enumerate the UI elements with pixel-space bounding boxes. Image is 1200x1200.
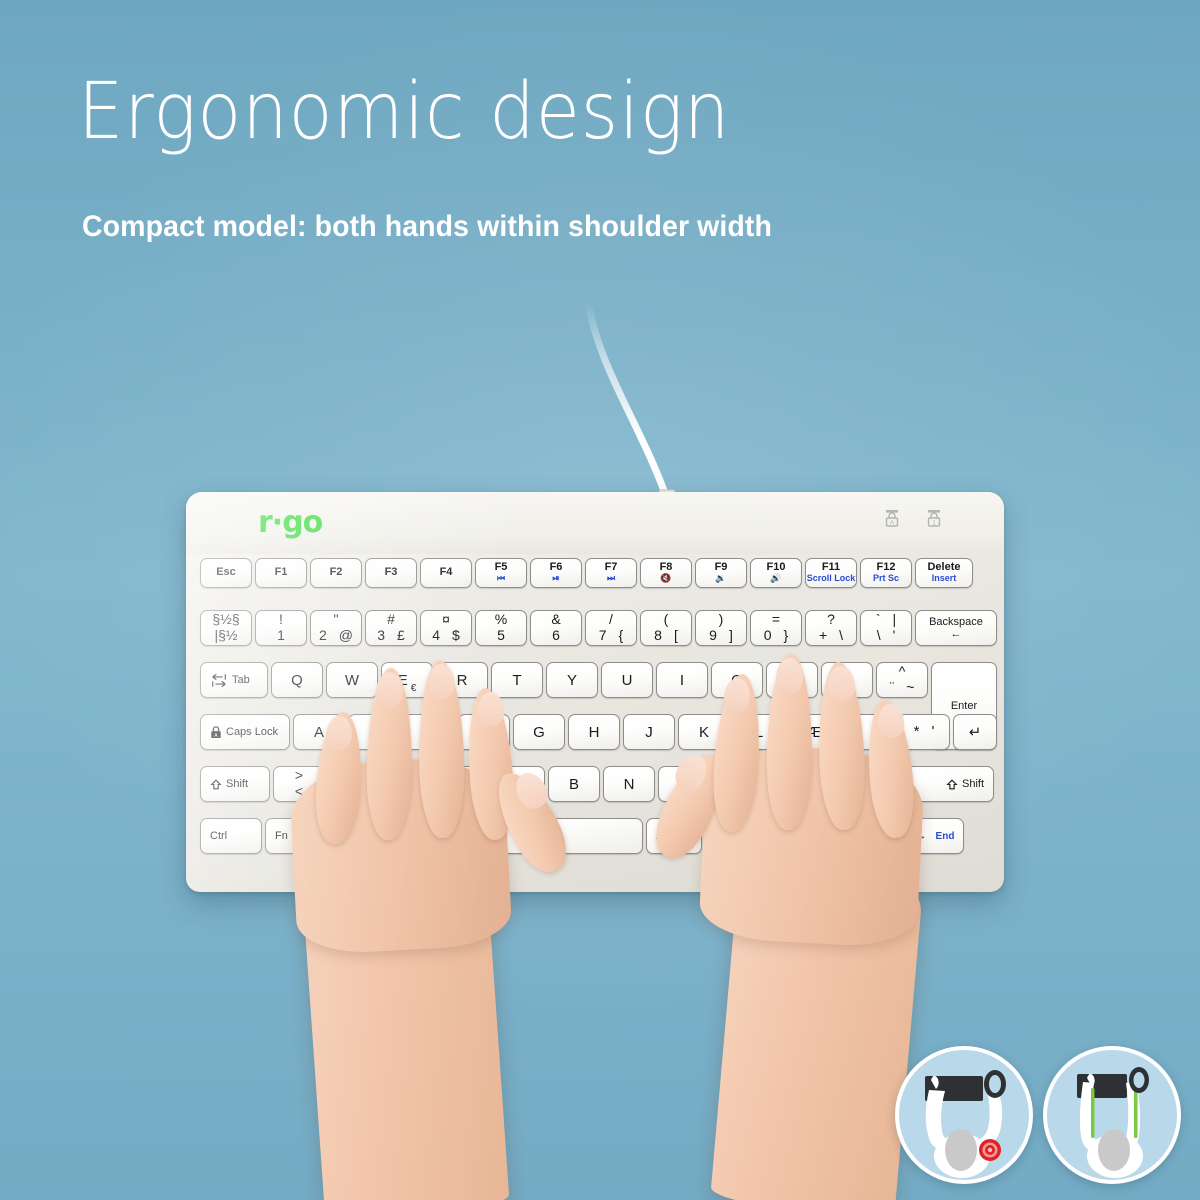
key-base-legend: 7: [599, 628, 607, 644]
key-label: Æ: [807, 724, 822, 741]
key-legend-pair: ÄØ: [852, 724, 886, 741]
key-label: Caps Lock: [226, 726, 278, 738]
key-label: R: [457, 672, 468, 689]
key-top-row: (: [664, 612, 669, 628]
key-fn[interactable]: Fn: [265, 818, 317, 854]
key-altgr-legend: \: [839, 628, 843, 644]
key-label: Y: [567, 672, 577, 689]
key-s[interactable]: S: [348, 714, 400, 750]
key-e[interactable]: E€: [381, 662, 433, 698]
key-label: W: [345, 672, 359, 689]
shift-arrow-icon: [210, 779, 222, 790]
key-secondary-label: 🔉: [715, 574, 726, 584]
key-secondary-label: 🔊: [770, 574, 781, 584]
key-bottom-row: 5: [497, 628, 505, 644]
key-key[interactable]: :.: [768, 766, 820, 802]
key-shift-legend: ^: [899, 664, 906, 680]
key-h[interactable]: H: [568, 714, 620, 750]
key-bottom-row: \': [877, 628, 896, 644]
key-bottom-row: 4$: [432, 628, 460, 644]
key-1[interactable]: !1: [255, 610, 307, 646]
key-arrow-up[interactable]: ↑PgUp: [845, 800, 901, 817]
key-base-legend: <: [295, 784, 303, 800]
page-title: Ergonomic design: [78, 72, 730, 154]
key-legend-pair: *': [914, 724, 935, 741]
tab-arrows-icon: [210, 673, 228, 688]
key-altgr-legend: @: [339, 628, 353, 644]
key-label: U: [622, 672, 633, 689]
key-secondary-legend: ': [931, 724, 934, 741]
key-bottom-row: |§½: [214, 628, 237, 644]
key-bottom-row: 6: [552, 628, 560, 644]
key-base-legend: -: [847, 784, 852, 800]
key-8[interactable]: (8[: [640, 610, 692, 646]
key-c[interactable]: C: [438, 766, 490, 802]
key-base-legend: .: [792, 784, 796, 800]
key-secondary-label: PgUp: [869, 803, 895, 814]
key-6[interactable]: &6: [530, 610, 582, 646]
key-key[interactable]: Æ: [788, 714, 840, 750]
arrow-right-icon: →: [916, 830, 927, 842]
key-f11[interactable]: F11Scroll Lock: [805, 558, 857, 588]
key-bottom-row: +\: [819, 628, 843, 644]
key-f5[interactable]: F5⏮: [475, 558, 527, 588]
key-label: K: [699, 724, 709, 741]
key-label: L: [755, 724, 763, 741]
key-a[interactable]: A: [293, 714, 345, 750]
enter-arrow-icon: ↵: [969, 723, 982, 741]
key-shift-legend: §½§: [212, 612, 239, 628]
key-bottom-row: 3£: [377, 628, 405, 644]
key-label: B: [569, 776, 579, 793]
rgo-logo: r·go: [258, 508, 322, 538]
key-label: S: [369, 724, 379, 741]
key-y[interactable]: Y: [546, 662, 598, 698]
key-label: D: [424, 724, 435, 741]
key-top-row: ": [334, 612, 339, 628]
key-f4[interactable]: F4: [420, 558, 472, 588]
key-alt-gr[interactable]: Alt Gr: [646, 818, 702, 854]
key-f1[interactable]: F1: [255, 558, 307, 588]
key-altgr-legend: £: [397, 628, 405, 644]
key-f3[interactable]: F3: [365, 558, 417, 588]
key-r[interactable]: R: [436, 662, 488, 698]
keyboard[interactable]: r·go A 1 EscF1F2F3F4F5⏮F6⏯F7⏭F8🔇F9🔉F10🔊F…: [186, 492, 1004, 892]
key-alt2-legend: |: [893, 612, 897, 628]
key-4[interactable]: ¤4$: [420, 610, 472, 646]
key-label: N: [624, 776, 635, 793]
key-secondary-label: PgDn: [869, 822, 895, 833]
key-bottom-row: 9]: [709, 628, 733, 644]
key-base-legend: 2: [319, 628, 327, 644]
forearm: [301, 859, 510, 1200]
key-z[interactable]: Z: [328, 766, 380, 802]
key-shift-legend: #: [387, 612, 395, 628]
key-f10[interactable]: F10🔊: [750, 558, 802, 588]
key-altgr-legend: {: [619, 628, 624, 644]
key-label: X: [404, 776, 414, 793]
key-shift-legend: !: [279, 612, 283, 628]
key-7[interactable]: /7{: [585, 610, 637, 646]
forearm: [710, 848, 925, 1200]
key-label: E: [398, 672, 408, 689]
key-label: F1: [275, 567, 288, 579]
key-base-legend: ¨: [890, 680, 895, 696]
backspace-arrow-icon: ←: [929, 628, 983, 640]
key-0[interactable]: =0}: [750, 610, 802, 646]
key-altgr-legend: ~: [906, 680, 914, 696]
marketing-image: Ergonomic design Compact model: both han…: [0, 0, 1200, 1200]
key-base-legend: 1: [277, 628, 285, 644]
key-ctrl[interactable]: Ctrl: [200, 818, 262, 854]
key-top-row: =: [772, 612, 780, 628]
key-base-legend: 5: [497, 628, 505, 644]
key-label: J: [645, 724, 653, 741]
key-top-row: !: [279, 612, 283, 628]
key-label: F: [479, 724, 488, 741]
key-base-legend: 6: [552, 628, 560, 644]
key-secondary-label: Insert: [932, 574, 957, 584]
key-secondary-label: End: [936, 831, 955, 842]
key-top-row: /: [609, 612, 613, 628]
key-base-legend: 3: [377, 628, 385, 644]
key-label: Shift: [962, 778, 984, 790]
key-secondary-label: Scroll Lock: [807, 574, 856, 584]
key-label: F3: [385, 567, 398, 579]
key-v[interactable]: V: [493, 766, 545, 802]
key-altgr-legend: €: [411, 683, 417, 694]
key-shift-legend: %: [495, 612, 507, 628]
key-shift-legend: /: [609, 612, 613, 628]
key-label: Fn: [275, 830, 288, 842]
key-secondary-label: ⏭: [607, 574, 615, 584]
key-bottom-row: 0}: [764, 628, 788, 644]
key-base-legend: \: [877, 628, 881, 644]
key-f9[interactable]: F9🔉: [695, 558, 747, 588]
key-g[interactable]: G: [513, 714, 565, 750]
key-top-row: `|: [876, 612, 896, 628]
key-key[interactable]: Å: [821, 662, 873, 698]
caps-lock-led-icon: A: [884, 510, 900, 530]
key-bottom-row: 8[: [654, 628, 678, 644]
key-label: O: [731, 672, 743, 689]
badge-good-posture: [1043, 1046, 1181, 1184]
svg-text:A: A: [214, 733, 218, 739]
key-base-legend: 4: [432, 628, 440, 644]
key-bottom-row: 1: [277, 628, 285, 644]
key-secondary-legend: Ø: [874, 724, 886, 741]
key-shift-legend: ;: [737, 768, 741, 784]
key-top-row: ¤: [442, 612, 450, 628]
key-x[interactable]: X: [383, 766, 435, 802]
key-top-row: &: [551, 612, 560, 628]
key-label: Shift: [226, 778, 248, 790]
key-base-legend: +: [819, 628, 827, 644]
key-f12[interactable]: F12Prt Sc: [860, 558, 912, 588]
key-shift-legend: >: [295, 768, 303, 784]
key-bottom-row: ¨~: [890, 680, 915, 696]
key-ctrl[interactable]: Ctrl: [705, 818, 757, 854]
key-f2[interactable]: F2: [310, 558, 362, 588]
key-2[interactable]: "2@: [310, 610, 362, 646]
key-caps-lock[interactable]: ACaps Lock: [200, 714, 290, 750]
key-n[interactable]: N: [603, 766, 655, 802]
key-label: Backspace: [929, 616, 983, 628]
key-label-stack: Backspace←: [929, 616, 983, 640]
key-key[interactable]: `|\': [860, 610, 912, 646]
key-label: Ctrl: [715, 830, 732, 842]
key-label: F4: [440, 567, 453, 579]
key-label: Q: [291, 672, 303, 689]
key-top-row: %: [495, 612, 507, 628]
key-base-legend: ,: [737, 784, 741, 800]
key-f6[interactable]: F6⏯: [530, 558, 582, 588]
key-label: H: [589, 724, 600, 741]
key-t[interactable]: T: [491, 662, 543, 698]
key-d[interactable]: D: [403, 714, 455, 750]
key-3[interactable]: #3£: [365, 610, 417, 646]
key-altgr-legend: [: [674, 628, 678, 644]
key-shift-legend: ): [719, 612, 724, 628]
key-shift-legend: ?: [827, 612, 835, 628]
key-key[interactable]: _-: [823, 766, 875, 802]
key-i[interactable]: I: [656, 662, 708, 698]
arrow-up-icon: ↑: [855, 803, 861, 815]
key-key[interactable]: *': [898, 714, 950, 750]
key-o[interactable]: O: [711, 662, 763, 698]
key-key[interactable]: ><: [273, 766, 325, 802]
key-shift-legend: :: [792, 768, 796, 784]
key-label: Z: [349, 776, 358, 793]
key-label: Enter: [951, 700, 977, 712]
key-alt[interactable]: Alt: [320, 818, 372, 854]
key-base-legend: 0: [764, 628, 772, 644]
key-altgr-legend: ': [893, 628, 896, 644]
key-label: V: [514, 776, 524, 793]
key-shift-legend: _: [845, 768, 853, 784]
key-k[interactable]: K: [678, 714, 730, 750]
key-j[interactable]: J: [623, 714, 675, 750]
key-key[interactable]: §½§|§½: [200, 610, 252, 646]
key-f7[interactable]: F7⏭: [585, 558, 637, 588]
key-altgr-legend: $: [452, 628, 460, 644]
num-lock-led-icon: 1: [926, 510, 942, 530]
key-q[interactable]: Q: [271, 662, 323, 698]
key-label: F2: [330, 567, 343, 579]
key-p[interactable]: P: [766, 662, 818, 698]
key-top-row: ?: [827, 612, 835, 628]
key-base-legend: |§½: [214, 628, 237, 644]
key-key[interactable]: ^¨~: [876, 662, 928, 698]
key-label: T: [512, 672, 521, 689]
key-label: Alt: [330, 830, 343, 842]
key-top-row: §½§: [212, 612, 239, 628]
key-shift-left[interactable]: Shift: [200, 766, 270, 802]
key-shift-legend: (: [664, 612, 669, 628]
key-arrow-right[interactable]: →End: [906, 818, 964, 854]
page-subtitle: Compact model: both hands within shoulde…: [82, 210, 772, 244]
key-esc[interactable]: Esc: [200, 558, 252, 588]
key-secondary-label: ⏯: [552, 574, 559, 584]
key-base-legend: 8: [654, 628, 662, 644]
svg-text:A: A: [890, 521, 894, 527]
key-delete[interactable]: DeleteInsert: [915, 558, 973, 588]
key-shift-legend: ": [334, 612, 339, 628]
key-secondary-label: ⏮: [497, 574, 505, 584]
key-u[interactable]: U: [601, 662, 653, 698]
key-altgr-legend: ]: [729, 628, 733, 644]
key-altgr-legend: }: [784, 628, 789, 644]
key-label: I: [680, 672, 684, 689]
key-primary-legend: *: [914, 724, 920, 741]
usb-cable-icon: [560, 300, 740, 520]
key-label: Esc: [216, 567, 236, 579]
key-bottom-row: 2@: [319, 628, 353, 644]
key-top-row: ): [719, 612, 724, 628]
key-secondary-label: Prt Sc: [873, 574, 899, 584]
key-bottom-row: 7{: [599, 628, 623, 644]
key-shift-legend: &: [551, 612, 560, 628]
key-label: G: [533, 724, 545, 741]
key-label: Tab: [232, 674, 250, 686]
key-key[interactable]: ;,: [713, 766, 765, 802]
key-label: A: [314, 724, 324, 741]
key-f8[interactable]: F8🔇: [640, 558, 692, 588]
key-l[interactable]: L: [733, 714, 785, 750]
key-label: P: [787, 672, 797, 689]
key-label: Alt Gr: [656, 830, 684, 842]
key-m[interactable]: M: [658, 766, 710, 802]
key-f[interactable]: F: [458, 714, 510, 750]
key-key[interactable]: ?+\: [805, 610, 857, 646]
key-key[interactable]: ÄØ: [843, 714, 895, 750]
key-shift-legend: =: [772, 612, 780, 628]
key-label: Å: [842, 672, 852, 689]
key-label: M: [678, 776, 691, 793]
key-space[interactable]: [375, 818, 643, 854]
key-key[interactable]: ↵: [953, 714, 997, 750]
key-primary-legend: Ä: [852, 724, 862, 741]
key-shift-legend: `: [876, 612, 881, 628]
key-backspace[interactable]: Backspace←: [915, 610, 997, 646]
key-5[interactable]: %5: [475, 610, 527, 646]
key-label: Ctrl: [210, 830, 227, 842]
key-top-row: #: [387, 612, 395, 628]
status-leds: A 1: [884, 510, 942, 530]
key-arrow-down[interactable]: ↓PgDn: [845, 819, 901, 836]
key-shift-legend: ¤: [442, 612, 450, 628]
key-b[interactable]: B: [548, 766, 600, 802]
key-secondary-label: 🔇: [660, 574, 671, 584]
arrow-down-icon: ↓: [855, 822, 861, 834]
key-w[interactable]: W: [326, 662, 378, 698]
key-tab[interactable]: Tab: [200, 662, 268, 698]
key-base-legend: 9: [709, 628, 717, 644]
badge-bad-posture: [895, 1046, 1033, 1184]
shift-arrow-icon: [946, 779, 958, 790]
caps-lock-icon: A: [210, 725, 222, 739]
key-shift-right[interactable]: Shift: [878, 766, 994, 802]
key-label: C: [459, 776, 470, 793]
key-9[interactable]: )9]: [695, 610, 747, 646]
